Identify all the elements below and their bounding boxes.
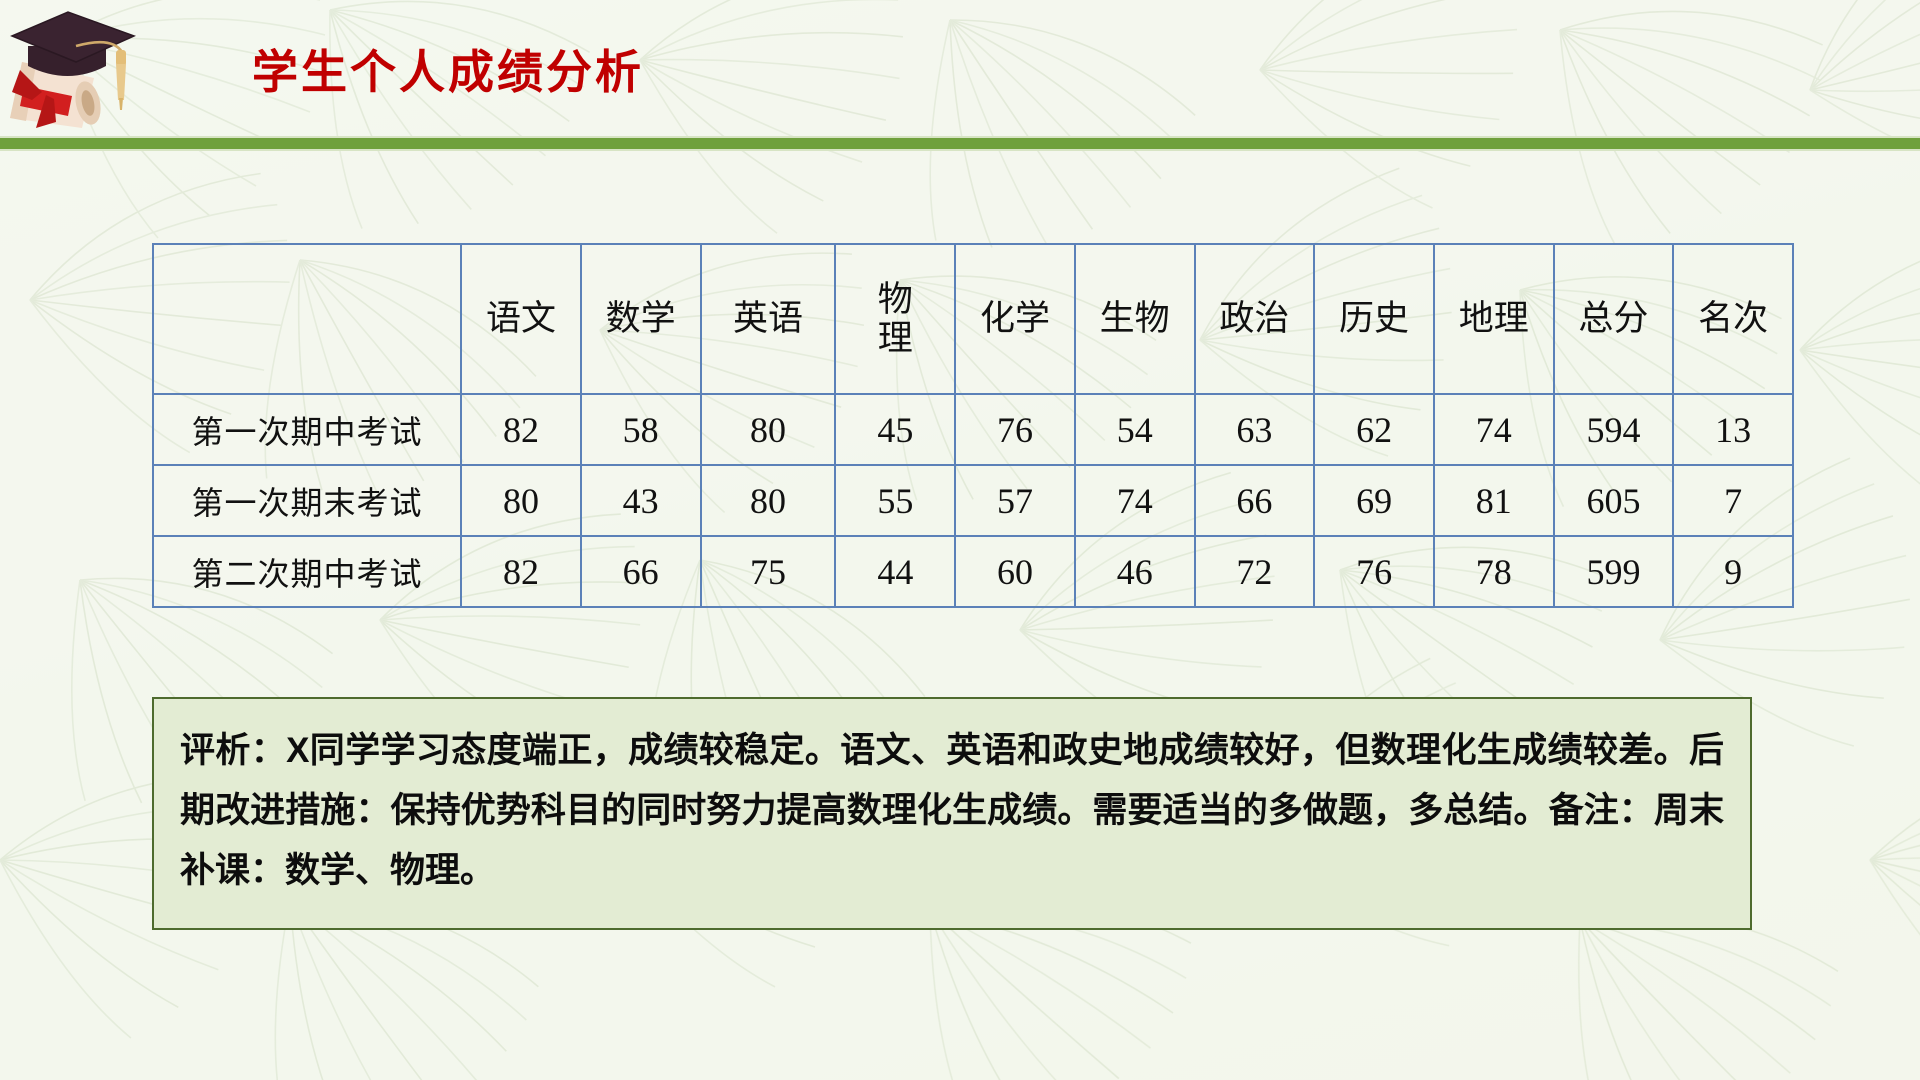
cell-r2-history: 76: [1314, 536, 1434, 607]
slide-header: 学生个人成绩分析: [0, 0, 1920, 136]
header-cell-history: 历史: [1314, 244, 1434, 394]
cell-r2-english: 75: [701, 536, 836, 607]
score-table-head: 语文 数学 英语 物理 化学 生物 政治 历史 地理 总分 名次: [153, 244, 1793, 394]
table-row: 第一次期中考试 82 58 80 45 76 54 63 62 74 594 1…: [153, 394, 1793, 465]
cell-r2-math: 66: [581, 536, 701, 607]
header-divider: [0, 136, 1920, 151]
commentary-box: 评析：X同学学习态度端正，成绩较稳定。语文、英语和政史地成绩较好，但数理化生成绩…: [152, 697, 1752, 930]
cell-r0-biology: 54: [1075, 394, 1195, 465]
header-cell-rank: 名次: [1673, 244, 1793, 394]
header-cell-politics: 政治: [1195, 244, 1315, 394]
commentary-text: 评析：X同学学习态度端正，成绩较稳定。语文、英语和政史地成绩较好，但数理化生成绩…: [180, 721, 1724, 902]
row-label-exam-1: 第一次期中考试: [153, 394, 461, 465]
cell-r2-geography: 78: [1434, 536, 1554, 607]
score-table: 语文 数学 英语 物理 化学 生物 政治 历史 地理 总分 名次 第一次期中考试…: [152, 243, 1794, 608]
header-cell-english: 英语: [701, 244, 836, 394]
cell-r0-chemistry: 76: [955, 394, 1075, 465]
score-table-body: 第一次期中考试 82 58 80 45 76 54 63 62 74 594 1…: [153, 394, 1793, 607]
cell-r1-history: 69: [1314, 465, 1434, 536]
cell-r1-politics: 66: [1195, 465, 1315, 536]
header-cell-physics: 物理: [835, 244, 955, 394]
header-cell-geography: 地理: [1434, 244, 1554, 394]
graduation-cap-icon: [2, 0, 222, 130]
header-cell-math: 数学: [581, 244, 701, 394]
cell-r2-total: 599: [1554, 536, 1674, 607]
cell-r2-chemistry: 60: [955, 536, 1075, 607]
header-cell-chemistry: 化学: [955, 244, 1075, 394]
cell-r1-math: 43: [581, 465, 701, 536]
row-label-exam-2: 第一次期末考试: [153, 465, 461, 536]
score-table-container: 语文 数学 英语 物理 化学 生物 政治 历史 地理 总分 名次 第一次期中考试…: [152, 243, 1794, 608]
header-cell-total: 总分: [1554, 244, 1674, 394]
table-row: 第二次期中考试 82 66 75 44 60 46 72 76 78 599 9: [153, 536, 1793, 607]
cell-r2-rank: 9: [1673, 536, 1793, 607]
cell-r0-math: 58: [581, 394, 701, 465]
page-title: 学生个人成绩分析: [252, 36, 644, 102]
cell-r2-biology: 46: [1075, 536, 1195, 607]
cell-r1-geography: 81: [1434, 465, 1554, 536]
cell-r1-chemistry: 57: [955, 465, 1075, 536]
cell-r2-politics: 72: [1195, 536, 1315, 607]
cell-r0-history: 62: [1314, 394, 1434, 465]
cell-r0-politics: 63: [1195, 394, 1315, 465]
cell-r0-total: 594: [1554, 394, 1674, 465]
table-header-row: 语文 数学 英语 物理 化学 生物 政治 历史 地理 总分 名次: [153, 244, 1793, 394]
table-row: 第一次期末考试 80 43 80 55 57 74 66 69 81 605 7: [153, 465, 1793, 536]
row-label-exam-3: 第二次期中考试: [153, 536, 461, 607]
cell-r1-rank: 7: [1673, 465, 1793, 536]
header-cell-corner: [153, 244, 461, 394]
cell-r2-physics: 44: [835, 536, 955, 607]
cell-r0-geography: 74: [1434, 394, 1554, 465]
cell-r0-chinese: 82: [461, 394, 581, 465]
cell-r1-english: 80: [701, 465, 836, 536]
cell-r1-chinese: 80: [461, 465, 581, 536]
cell-r0-rank: 13: [1673, 394, 1793, 465]
cell-r1-total: 605: [1554, 465, 1674, 536]
header-cell-chinese: 语文: [461, 244, 581, 394]
cell-r0-english: 80: [701, 394, 836, 465]
cell-r1-biology: 74: [1075, 465, 1195, 536]
slide-canvas: 学生个人成绩分析 语文 数学 英语 物理 化学 生物 政治 历史 地理 总分 名…: [0, 0, 1920, 1080]
cell-r2-chinese: 82: [461, 536, 581, 607]
header-cell-physics-label: 物理: [874, 280, 916, 358]
cell-r0-physics: 45: [835, 394, 955, 465]
header-cell-biology: 生物: [1075, 244, 1195, 394]
cell-r1-physics: 55: [835, 465, 955, 536]
